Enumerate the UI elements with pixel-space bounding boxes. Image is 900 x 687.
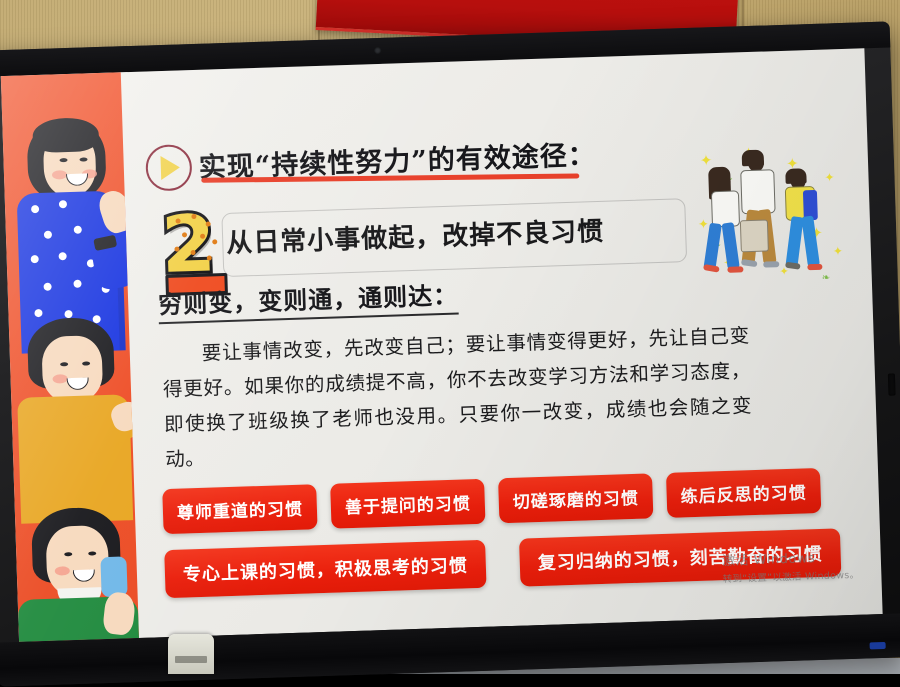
watermark-title: 激活 Windows <box>722 546 859 569</box>
bezel-side-button[interactable] <box>888 373 896 395</box>
slide-content: 实现“持续性努力”的有效途径： 2 从日常小事做起，改掉不良习惯 穷则变，变则通… <box>121 48 883 638</box>
slide-canvas[interactable]: 实现“持续性努力”的有效途径： 2 从日常小事做起，改掉不良习惯 穷则变，变则通… <box>1 48 883 642</box>
habit-chip[interactable]: 善于提问的习惯 <box>330 479 485 529</box>
slide-subtitle: 穷则变，变则通，通则达： <box>158 276 459 325</box>
habit-chip[interactable]: 尊师重道的习惯 <box>162 484 317 534</box>
slide-paragraph: 要让事情改变，先改变自己；要让事情变得更好，先让自己变得更好。如果你的成绩提不高… <box>161 318 753 477</box>
habit-chip[interactable]: 切磋琢磨的习惯 <box>498 473 653 523</box>
cartoon-family-illustration <box>1 72 139 642</box>
play-triangle-icon <box>145 144 192 191</box>
windows-activation-watermark: 激活 Windows 转到“设置”以激活 Windows。 <box>722 546 860 585</box>
three-walking-students-illustration: ✦ ✦ ✦ ✦ ✦ ✦ ✦ ✦ ✦ ✦ ❧ ❧ ❧ ❧ <box>689 141 862 294</box>
person-blue-item <box>100 556 127 597</box>
power-indicator <box>870 642 886 650</box>
man-face <box>41 335 103 403</box>
habit-chip[interactable]: 练后反思的习惯 <box>666 468 821 518</box>
habit-chip[interactable]: 专心上课的习惯，积极思考的习惯 <box>164 540 486 598</box>
desk-device[interactable] <box>168 634 214 674</box>
habit-chip-grid: 尊师重道的习惯 善于提问的习惯 切磋琢磨的习惯 练后反思的习惯 专心上课的习惯，… <box>162 467 866 615</box>
person-face <box>45 525 109 597</box>
desk-device-label <box>175 656 207 663</box>
woman-fringe <box>32 117 99 153</box>
habit-chip-row: 尊师重道的习惯 善于提问的习惯 切磋琢磨的习惯 练后反思的习惯 <box>162 467 863 535</box>
classroom-interactive-display[interactable]: 实现“持续性努力”的有效途径： 2 从日常小事做起，改掉不良习惯 穷则变，变则通… <box>0 21 900 686</box>
